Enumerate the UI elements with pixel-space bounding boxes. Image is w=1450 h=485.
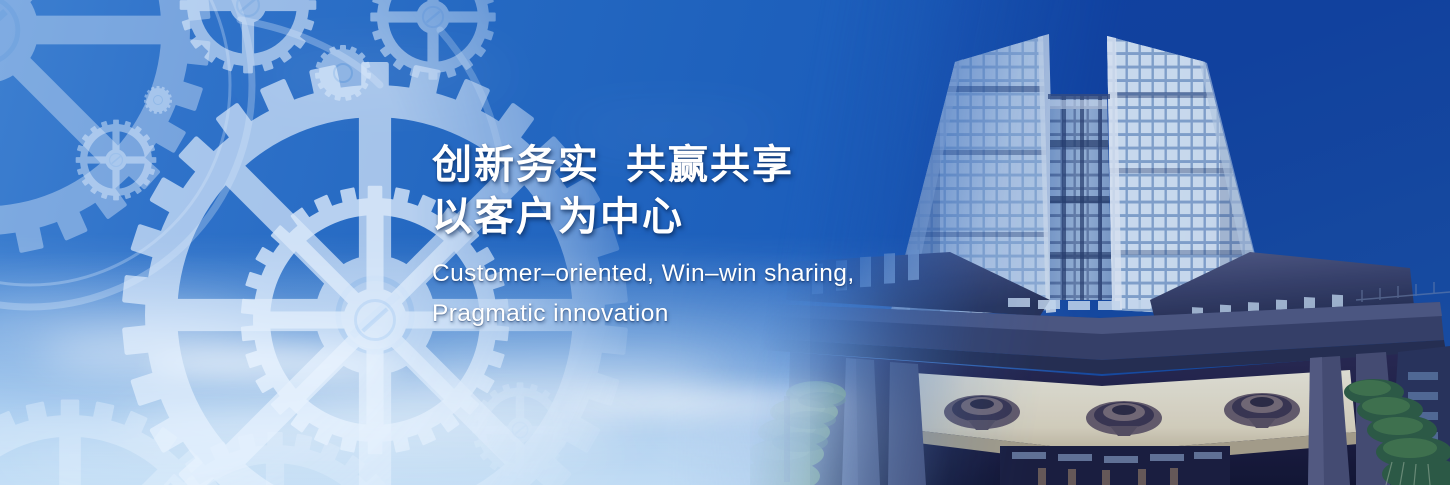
subhead-line-2: Pragmatic innovation [432, 294, 992, 334]
headline-line-1: 创新务实共赢共享 [432, 139, 992, 191]
subhead-line-1: Customer–oriented, Win–win sharing, [432, 254, 992, 294]
headline-part-2: 共赢共享 [626, 143, 794, 187]
headline-part-1: 创新务实 [432, 143, 600, 187]
hero-banner: 创新务实共赢共享 以客户为中心 Customer–oriented, Win–w… [0, 0, 1450, 485]
headline-line-2: 以客户为中心 [432, 191, 992, 243]
banner-copy: 创新务实共赢共享 以客户为中心 Customer–oriented, Win–w… [432, 139, 992, 334]
